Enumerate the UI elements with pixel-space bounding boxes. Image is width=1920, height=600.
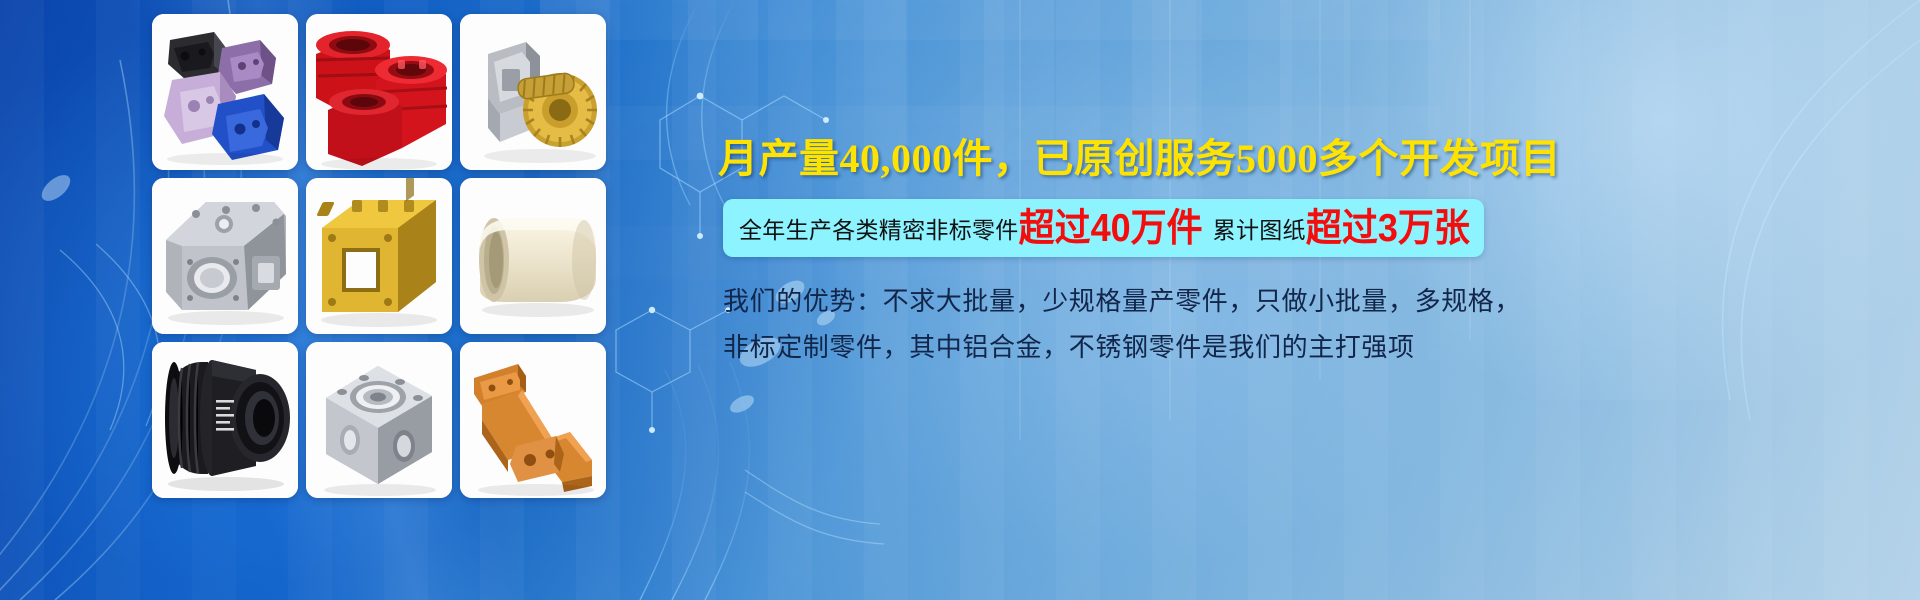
red-anodized-cylinders-icon — [306, 14, 452, 170]
product-card[interactable] — [460, 342, 606, 498]
banner-body-text: 我们的优势：不求大批量，少规格量产零件，只做小批量，多规格， 非标定制零件，其中… — [723, 278, 1843, 370]
highlight-emphasis-2: 超过3万张 — [1306, 209, 1470, 248]
copper-anodized-bracket-arm-icon — [460, 342, 606, 498]
highlight-text-2: 累计图纸 — [1213, 211, 1306, 245]
banner-headline: 月产量40,000件，已原创服务5000多个开发项目 — [718, 136, 1908, 182]
product-card[interactable] — [460, 14, 606, 170]
body-line-2: 非标定制零件，其中铝合金，不锈钢零件是我们的主打强项 — [723, 324, 1843, 370]
product-card[interactable] — [460, 178, 606, 334]
product-card[interactable] — [306, 342, 452, 498]
highlight-emphasis-1: 超过40万件 — [1019, 209, 1203, 248]
product-card[interactable] — [152, 342, 298, 498]
product-card[interactable] — [306, 14, 452, 170]
body-line-1: 我们的优势：不求大批量，少规格量产零件，只做小批量，多规格， — [723, 278, 1843, 324]
black-anodized-hub-nozzle-icon — [152, 342, 298, 498]
product-card[interactable] — [152, 14, 298, 170]
stainless-cube-valve-block-icon — [306, 342, 452, 498]
gold-anodized-frame-plate-icon — [306, 178, 452, 334]
aluminum-gearbox-housing-icon — [152, 178, 298, 334]
white-plastic-curved-shell-icon — [460, 178, 606, 334]
highlight-bar: 全年生产各类精密非标零件 超过40万件 累计图纸 超过3万张 — [723, 199, 1484, 257]
highlight-text-1: 全年生产各类精密非标零件 — [739, 211, 1019, 245]
promo-banner: 月产量40,000件，已原创服务5000多个开发项目 全年生产各类精密非标零件 … — [0, 0, 1920, 600]
banner-copy: 月产量40,000件，已原创服务5000多个开发项目 全年生产各类精密非标零件 … — [718, 0, 1908, 600]
product-card[interactable] — [306, 178, 452, 334]
product-card[interactable] — [152, 178, 298, 334]
brass-worm-gear-assembly-icon — [460, 14, 606, 170]
product-photo-grid — [152, 14, 606, 498]
machined-brackets-purple-blue-icon — [152, 14, 298, 170]
